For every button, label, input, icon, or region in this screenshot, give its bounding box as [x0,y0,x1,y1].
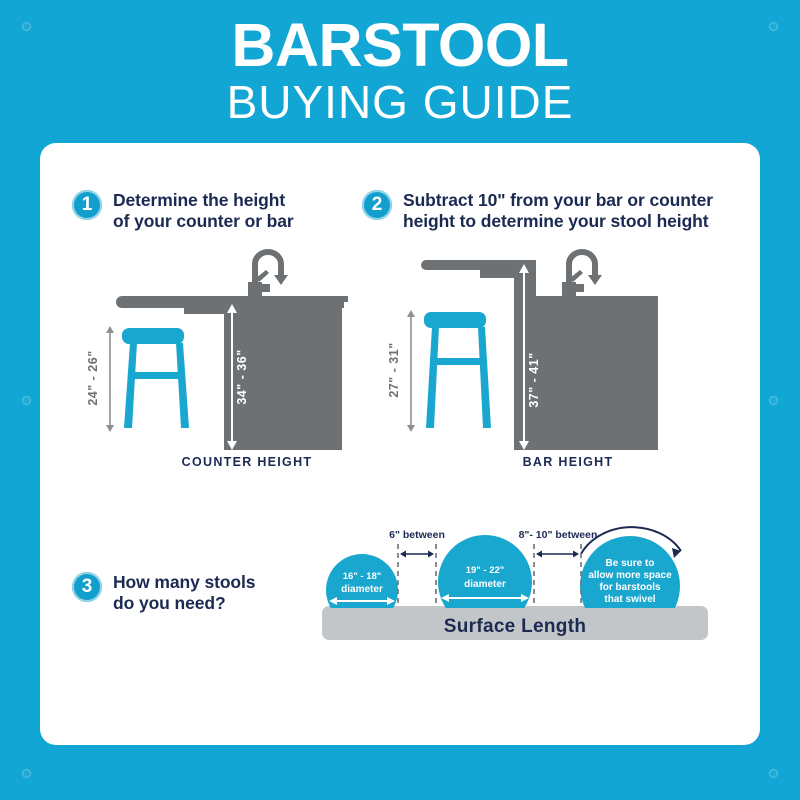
counter-height-caption: COUNTER HEIGHT [147,455,347,469]
corner-screw-icon [769,769,778,778]
step-1-number: 1 [72,190,102,220]
step-1-text: Determine the height of your counter or … [113,190,294,232]
step-3-heading: 3 How many stools do you need? [72,572,255,614]
surface-length-label: Surface Length [300,616,730,638]
counter-height-diagram: 24" - 26" 34" - 36" COUNTER HEIGHT [100,250,390,480]
step-2-text: Subtract 10" from your bar or counter he… [403,190,713,232]
bar-height-diagram: 27" - 31" 37" - 41" BAR HEIGHT [398,250,698,480]
step-2-heading: 2 Subtract 10" from your bar or counter … [362,190,713,232]
infographic-poster: BARSTOOL BUYING GUIDE 1 Determine the he… [0,0,800,800]
swivel-note-line-4: that swivel [604,594,655,605]
step-2-number: 2 [362,190,392,220]
swivel-note-line-1: Be sure to [606,558,655,569]
stool-1-diameter-value: 16" - 18" [343,571,382,582]
corner-screw-icon [769,396,778,405]
stool-2-diameter-unit: diameter [464,579,506,590]
stool-height-label: 24" - 26" [86,350,100,405]
page-title: BARSTOOL BUYING GUIDE [0,14,800,128]
counter-stool-illustration [122,328,189,428]
swivel-note-line-3: for barstools [599,582,661,593]
step-3-text: How many stools do you need? [113,572,255,614]
corner-screw-icon [22,769,31,778]
title-main: BARSTOOL [0,14,800,76]
bar-illustration [421,252,658,450]
bar-height-caption: BAR HEIGHT [468,455,668,469]
step-3-number: 3 [72,572,102,602]
gap-2-label: 8"- 10" between [519,529,598,541]
stool-1-diameter-unit: diameter [341,584,383,595]
stool-height-label: 27" - 31" [387,342,401,397]
stool-2-diameter-value: 19" - 22" [466,565,505,576]
swivel-note-line-2: allow more space [588,570,672,581]
title-subtitle: BUYING GUIDE [0,76,800,128]
stool-spacing-diagram: 16" - 18" diameter 19" - 22" diameter [300,520,730,670]
counter-height-label: 34" - 36" [235,349,249,404]
step-1-heading: 1 Determine the height of your counter o… [72,190,294,232]
bar-height-label: 37" - 41" [527,352,541,407]
corner-screw-icon [22,396,31,405]
bar-stool-illustration [424,312,491,428]
gap-1-label: 6" between [389,529,445,541]
